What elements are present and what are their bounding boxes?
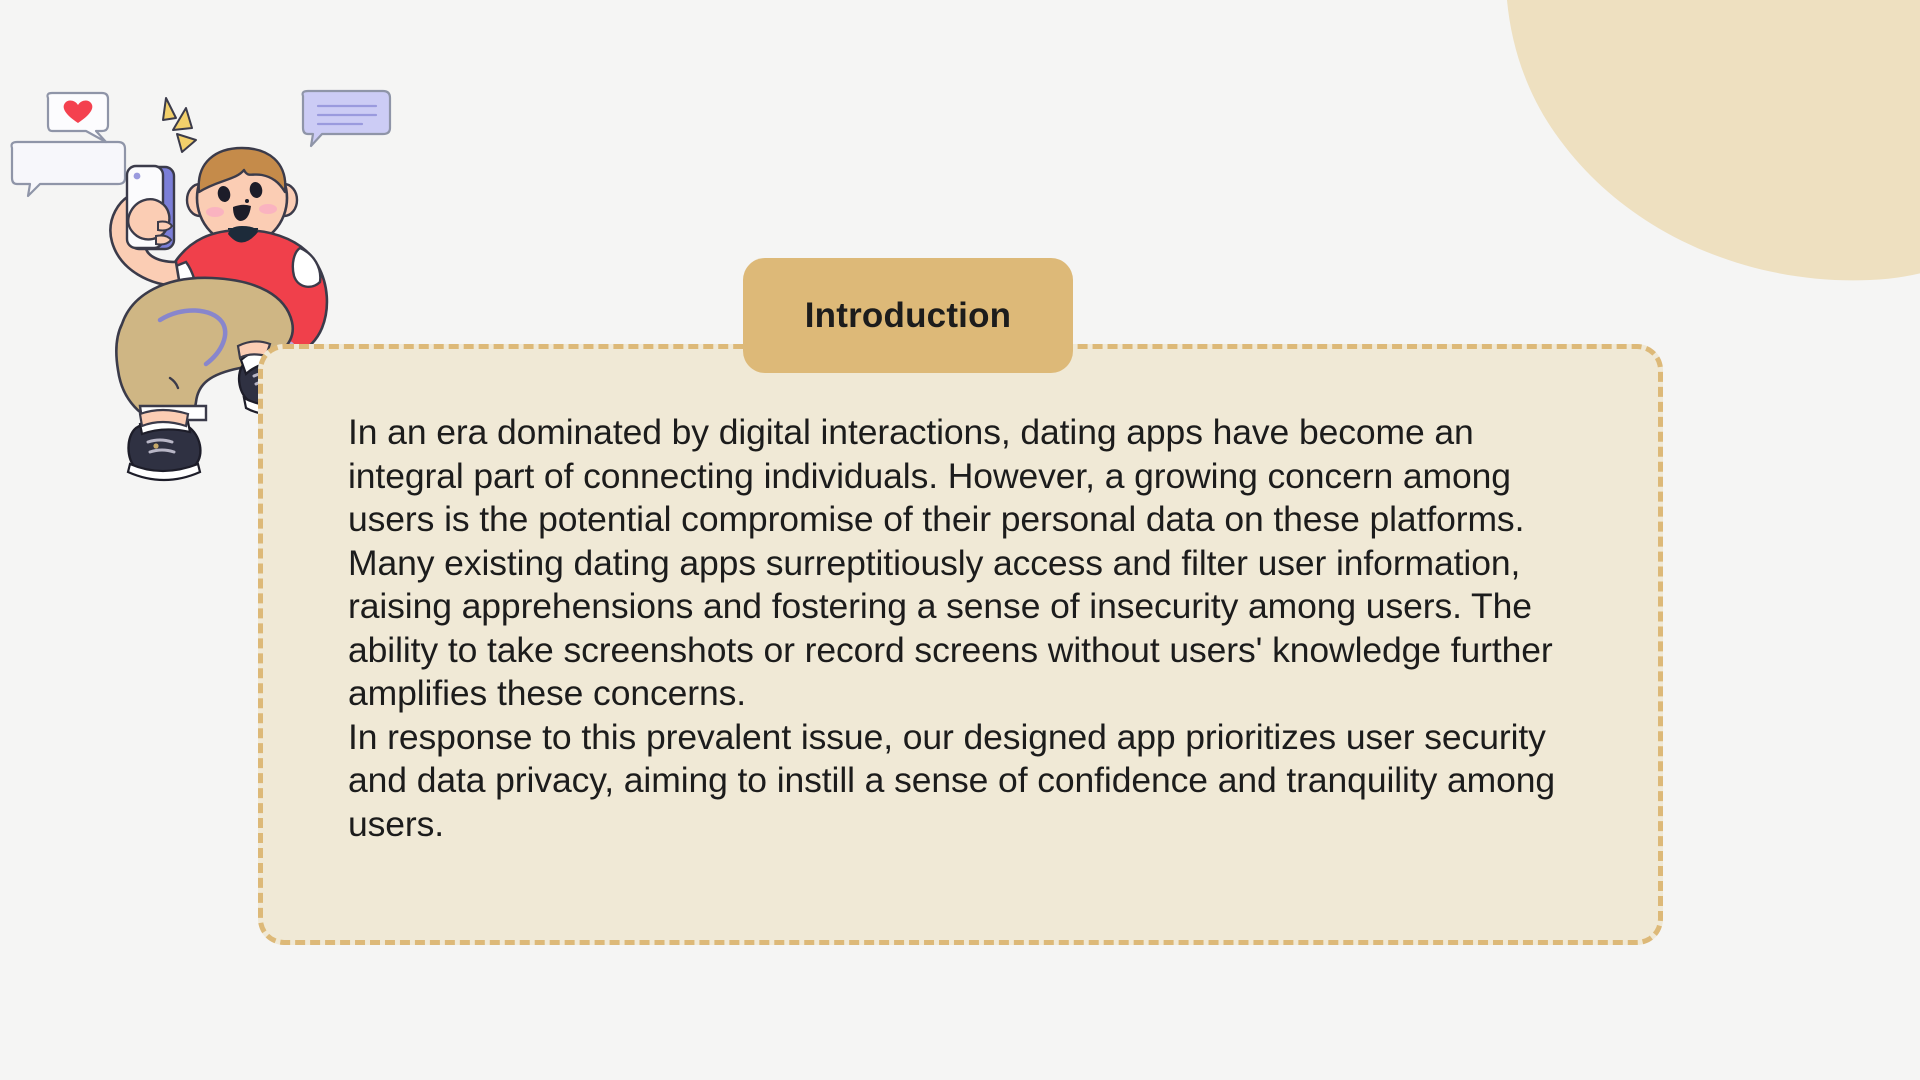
right-leg-shape [249,238,313,361]
introduction-content-card: In an era dominated by digital interacti… [258,344,1663,945]
sparkle-icon [163,98,196,152]
introduction-body-text: In an era dominated by digital interacti… [348,411,1568,846]
smartphone-icon [127,166,174,249]
left-arm-holding-phone [110,191,180,286]
section-title-badge: Introduction [743,258,1073,373]
slide-canvas: In an era dominated by digital interacti… [0,0,1920,1080]
chat-bubble-message-icon [303,91,390,146]
chat-bubble-blank-icon [12,142,125,196]
character-head [187,148,297,245]
chat-bubble-heart-icon [48,93,109,142]
section-title-label: Introduction [805,296,1012,336]
sneaker-lower-icon [128,410,200,480]
beige-blob-decoration [1310,0,1920,360]
hand-gripping-phone [128,199,172,244]
